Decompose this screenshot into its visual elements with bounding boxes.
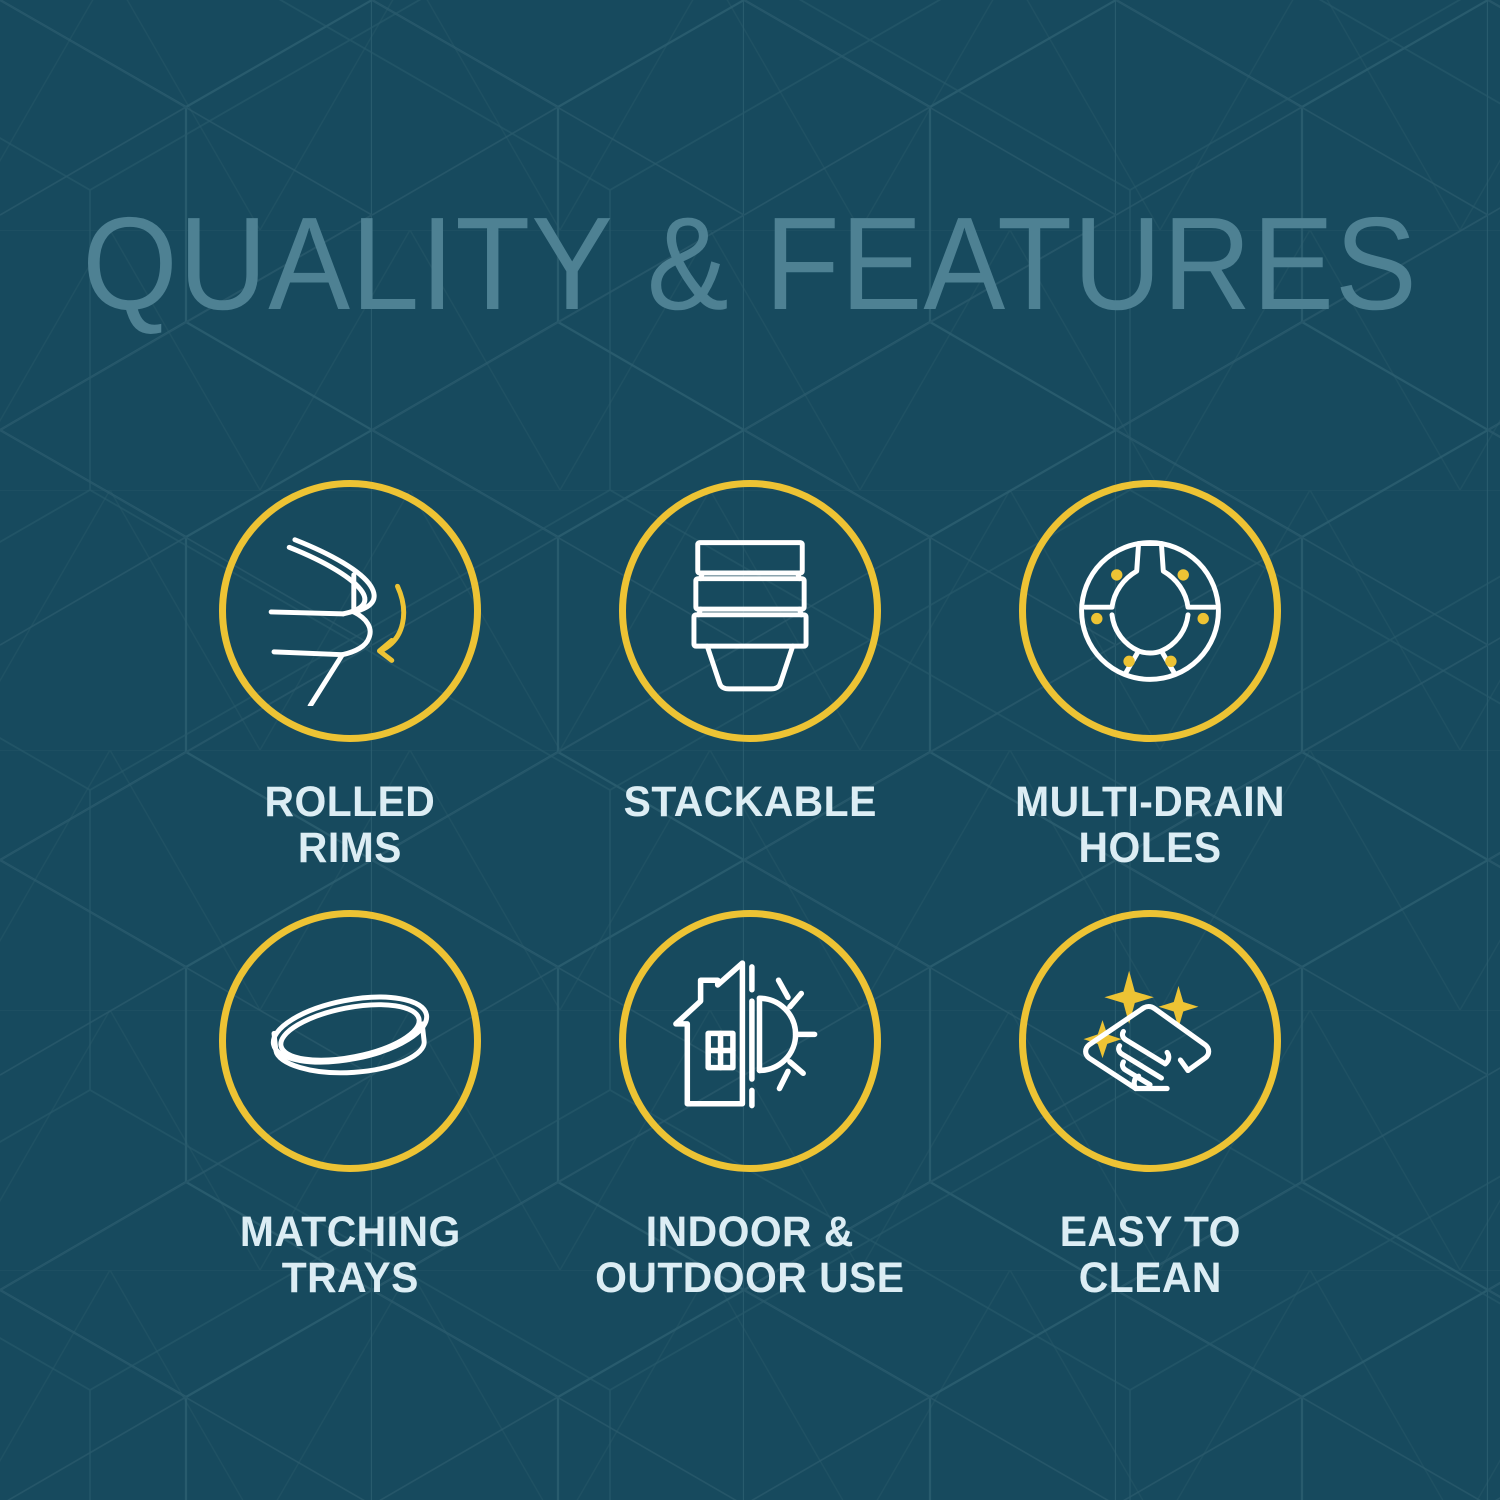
label-line-1: ROLLED xyxy=(265,779,436,825)
feature-matching-trays[interactable]: MATCHING TRAYS xyxy=(150,910,550,1340)
badge-stackable xyxy=(619,480,881,742)
label-line-1: EASY TO xyxy=(1059,1209,1240,1255)
label-line-1: STACKABLE xyxy=(623,779,876,825)
badge-indoor-outdoor-use xyxy=(619,910,881,1172)
feature-label-multi-drain-holes: MULTI-DRAIN HOLES xyxy=(1015,779,1285,871)
sparkles xyxy=(1084,971,1199,1058)
label-line-2: HOLES xyxy=(1015,825,1285,871)
hand-wiping-sparkle-icon xyxy=(1055,946,1245,1136)
badge-multi-drain-holes xyxy=(1019,480,1281,742)
drain-holes-icon xyxy=(1055,516,1245,706)
badge-matching-trays xyxy=(219,910,481,1172)
house-sun-icon xyxy=(655,946,845,1136)
feature-indoor-outdoor-use[interactable]: INDOOR & OUTDOOR USE xyxy=(550,910,950,1340)
features-grid: ROLLED RIMS xyxy=(150,480,1350,1340)
label-line-1: INDOOR & xyxy=(595,1209,904,1255)
page-title: QUALITY & FEATURES xyxy=(53,198,1448,330)
badge-easy-to-clean xyxy=(1019,910,1281,1172)
feature-rolled-rims[interactable]: ROLLED RIMS xyxy=(150,480,550,910)
feature-multi-drain-holes[interactable]: MULTI-DRAIN HOLES xyxy=(950,480,1350,910)
feature-label-easy-to-clean: EASY TO CLEAN xyxy=(1059,1209,1240,1301)
label-line-1: MATCHING xyxy=(240,1209,461,1255)
feature-easy-to-clean[interactable]: EASY TO CLEAN xyxy=(950,910,1350,1340)
oval-tray-icon xyxy=(255,946,445,1136)
rolled-rim-icon xyxy=(255,516,445,706)
feature-label-stackable: STACKABLE xyxy=(623,779,876,825)
label-line-2: TRAYS xyxy=(240,1255,461,1301)
label-line-2: CLEAN xyxy=(1059,1255,1240,1301)
feature-label-matching-trays: MATCHING TRAYS xyxy=(240,1209,461,1301)
feature-stackable[interactable]: STACKABLE xyxy=(550,480,950,910)
badge-rolled-rims xyxy=(219,480,481,742)
stacked-pots-icon xyxy=(655,516,845,706)
quality-features-panel: QUALITY & FEATURES xyxy=(0,0,1500,1500)
label-line-2: OUTDOOR USE xyxy=(595,1255,904,1301)
label-line-1: MULTI-DRAIN xyxy=(1015,779,1285,825)
feature-label-rolled-rims: ROLLED RIMS xyxy=(265,779,436,871)
feature-label-indoor-outdoor-use: INDOOR & OUTDOOR USE xyxy=(595,1209,904,1301)
label-line-2: RIMS xyxy=(265,825,436,871)
